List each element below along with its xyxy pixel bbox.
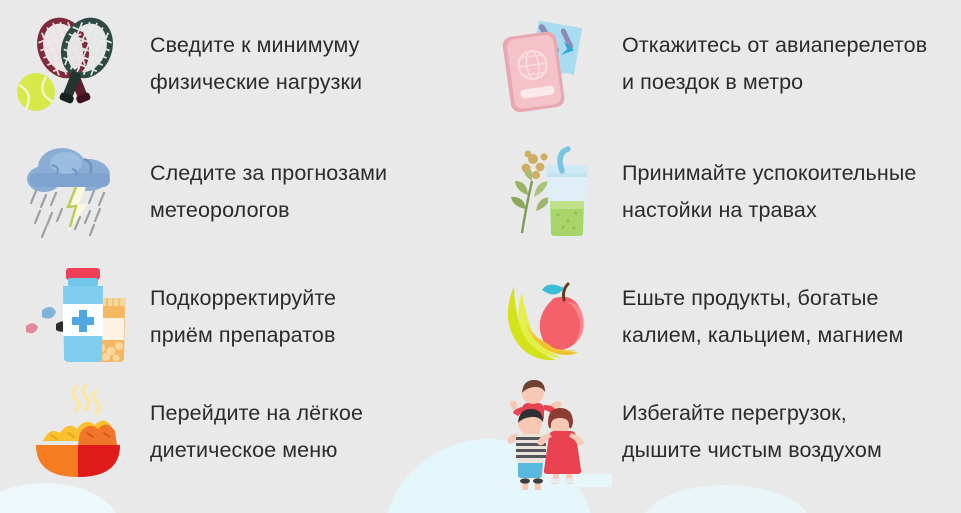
three-children-playing-icon bbox=[492, 377, 612, 487]
tip-label-6: Ешьте продукты, богатые калием, кальцием… bbox=[622, 280, 961, 354]
tip-item-5: Подкорректируйте приём препаратов bbox=[0, 256, 480, 377]
tip-label-4: Принимайте успокоительные настойки на тр… bbox=[622, 155, 961, 229]
tip-label-8: Избегайте перегрузок, дышите чистым возд… bbox=[622, 395, 961, 469]
decorative-hill-left bbox=[0, 483, 120, 513]
tip-label-5: Подкорректируйте приём препаратов bbox=[150, 280, 480, 354]
tip-label-1: Сведите к минимуму физические нагрузки bbox=[150, 27, 480, 101]
rain-cloud-lightning-icon bbox=[18, 137, 138, 247]
tip-item-8: Избегайте перегрузок, дышите чистым возд… bbox=[480, 377, 961, 487]
tip-item-6: Ешьте продукты, богатые калием, кальцием… bbox=[480, 256, 961, 377]
passport-airplane-ticket-icon bbox=[492, 9, 612, 119]
tip-item-2: Откажитесь от авиаперелетов и поездок в … bbox=[480, 0, 961, 128]
decorative-hill-right bbox=[641, 485, 811, 513]
medicine-bottles-pills-icon bbox=[18, 262, 138, 372]
tennis-rackets-icon bbox=[14, 9, 134, 119]
health-tips-poster: Сведите к минимуму физические нагрузки bbox=[0, 0, 961, 513]
tip-label-7: Перейдите на лёгкое диетическое меню bbox=[150, 395, 480, 469]
tip-item-4: Принимайте успокоительные настойки на тр… bbox=[480, 128, 961, 256]
tips-grid: Сведите к минимуму физические нагрузки bbox=[0, 0, 961, 487]
tip-item-7: Перейдите на лёгкое диетическое меню bbox=[0, 377, 480, 487]
hot-food-bowl-icon bbox=[18, 377, 138, 487]
tip-item-3: Следите за прогнозами метеорологов bbox=[0, 128, 480, 256]
tip-label-3: Следите за прогнозами метеорологов bbox=[150, 155, 480, 229]
herbal-drink-jar-icon bbox=[492, 137, 612, 247]
tip-item-1: Сведите к минимуму физические нагрузки bbox=[0, 0, 480, 128]
banana-apple-icon bbox=[492, 262, 612, 372]
tip-label-2: Откажитесь от авиаперелетов и поездок в … bbox=[622, 27, 961, 101]
